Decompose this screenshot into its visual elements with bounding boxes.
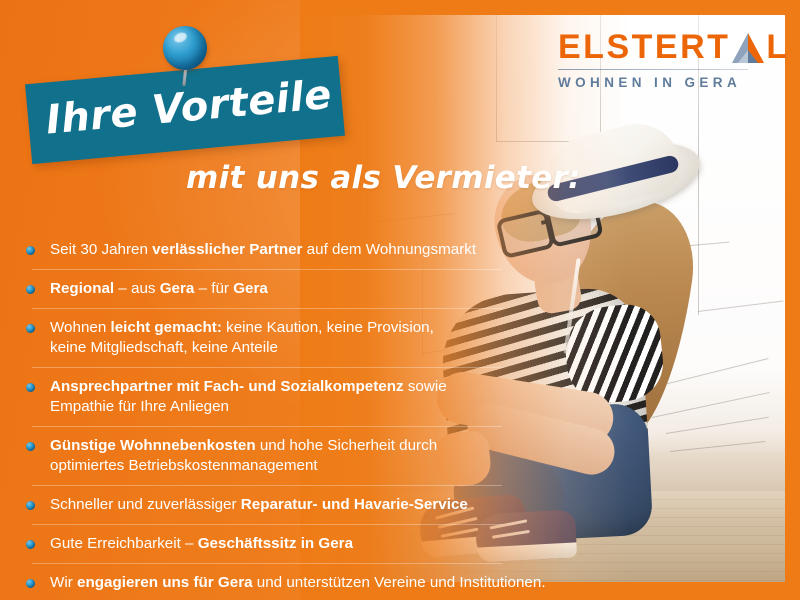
list-item-text: Gute Erreichbarkeit – Geschäftssitz in G… [50, 535, 353, 552]
list-item-text: Wir engagieren uns für Gera und unterstü… [50, 574, 546, 591]
frame-strip-right [785, 0, 800, 600]
benefits-list: Seit 30 Jahren verlässlicher Partner auf… [22, 240, 582, 593]
brand-logo[interactable]: ELSTERT L WOHNEN IN GERA [558, 30, 758, 90]
list-item-text: Schneller und zuverlässiger Reparatur- u… [50, 496, 468, 513]
list-separator [32, 524, 502, 525]
list-item-text: Günstige Wohnnebenkosten und hohe Sicher… [50, 437, 437, 474]
list-item: Wohnen leicht gemacht: keine Kaution, ke… [22, 318, 582, 358]
bullet-dot-icon [26, 540, 35, 549]
bullet-dot-icon [26, 246, 35, 255]
list-separator [32, 426, 502, 427]
subheadline: mit uns als Vermieter: [186, 160, 581, 196]
list-item: Günstige Wohnnebenkosten und hohe Sicher… [22, 436, 582, 476]
list-item-text: Ansprechpartner mit Fach- und Sozialkomp… [50, 378, 447, 415]
mountain-a-icon [731, 32, 765, 64]
list-item-text: Regional – aus Gera – für Gera [50, 280, 268, 297]
bullet-dot-icon [26, 579, 35, 588]
list-item: Wir engagieren uns für Gera und unterstü… [22, 573, 582, 593]
logo-word-part1: ELSTERT [558, 30, 730, 64]
list-item-text: Wohnen leicht gemacht: keine Kaution, ke… [50, 319, 434, 356]
poster: ELSTERT L WOHNEN IN GERA Ihre Vorteile m… [0, 0, 800, 600]
bullet-dot-icon [26, 285, 35, 294]
pushpin-highlight [173, 31, 189, 45]
list-item: Regional – aus Gera – für Gera [22, 279, 582, 299]
bullet-dot-icon [26, 501, 35, 510]
logo-tagline: WOHNEN IN GERA [558, 75, 758, 90]
frame-strip-top [300, 0, 800, 15]
list-separator [32, 367, 502, 368]
bullet-dot-icon [26, 442, 35, 451]
list-item-text: Seit 30 Jahren verlässlicher Partner auf… [50, 241, 476, 258]
list-separator [32, 269, 502, 270]
list-item: Schneller und zuverlässiger Reparatur- u… [22, 495, 582, 515]
bullet-dot-icon [26, 324, 35, 333]
list-separator [32, 563, 502, 564]
list-item: Seit 30 Jahren verlässlicher Partner auf… [22, 240, 582, 260]
logo-wordmark: ELSTERT L [558, 30, 758, 64]
pushpin-head [163, 26, 207, 70]
pushpin-icon [163, 26, 209, 86]
list-separator [32, 308, 502, 309]
list-separator [32, 485, 502, 486]
bullet-dot-icon [26, 383, 35, 392]
list-item: Gute Erreichbarkeit – Geschäftssitz in G… [22, 534, 582, 554]
logo-word-part2: L [766, 30, 789, 64]
list-item: Ansprechpartner mit Fach- und Sozialkomp… [22, 377, 582, 417]
logo-divider [558, 69, 748, 70]
